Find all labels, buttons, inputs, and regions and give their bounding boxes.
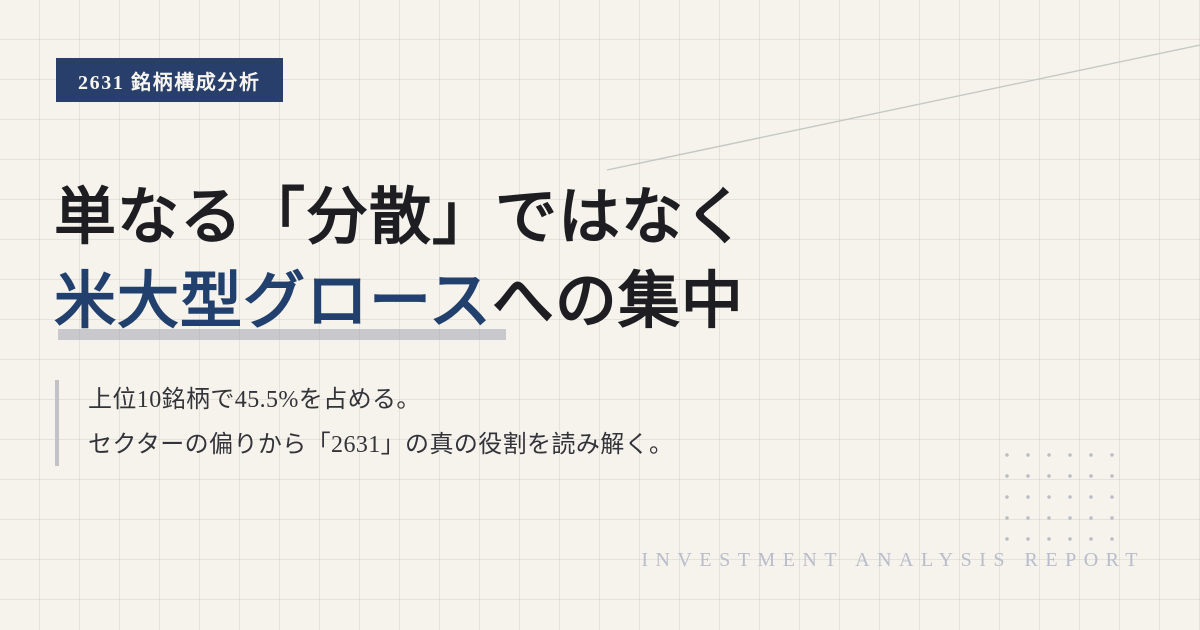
headline-line-1: 単なる「分散」ではなく	[54, 176, 954, 260]
headline-accent-text: 米大型グロース	[54, 268, 492, 336]
category-badge: 2631 銘柄構成分析	[56, 58, 283, 102]
subtitle-block: 上位10銘柄で45.5%を占める。 セクターの偏りから「2631」の真の役割を読…	[55, 380, 673, 466]
headline-plain-text: への集中	[492, 268, 744, 336]
subtitle-line-2: セクターの偏りから「2631」の真の役割を読み解く。	[88, 423, 673, 468]
poster-content: 2631 銘柄構成分析 単なる「分散」ではなく 米大型グロースへの集中 上位10…	[0, 0, 1200, 630]
report-type-label: INVESTMENT ANALYSIS REPORT	[641, 549, 1145, 572]
headline: 単なる「分散」ではなく 米大型グロースへの集中	[54, 176, 954, 344]
subtitle-line-1: 上位10銘柄で45.5%を占める。	[88, 378, 673, 423]
headline-line-2: 米大型グロースへの集中	[54, 260, 954, 344]
category-badge-label: 2631 銘柄構成分析	[78, 66, 261, 95]
